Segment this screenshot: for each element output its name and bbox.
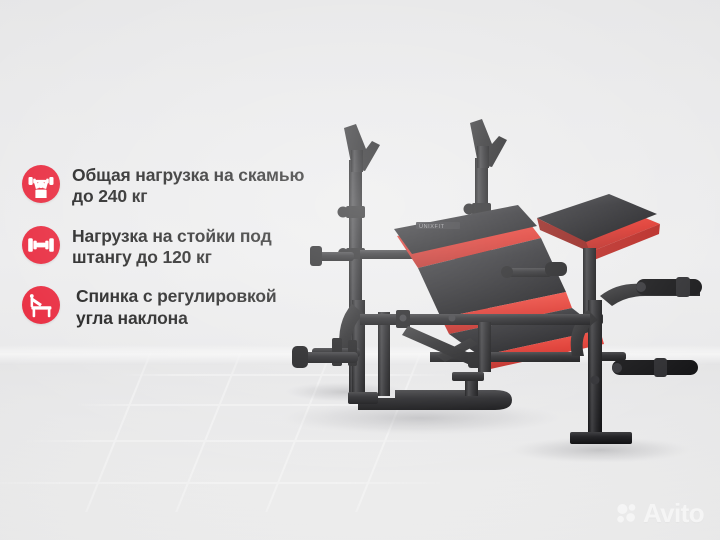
product-image-canvas: UNIXFIT bbox=[0, 0, 720, 540]
feature-item-bench-capacity: Общая нагрузка на скамью до 240 кг bbox=[22, 163, 342, 208]
feature-label: Нагрузка на стойки под штангу до 120 кг bbox=[72, 224, 272, 269]
feature-label: Общая нагрузка на скамью до 240 кг bbox=[72, 163, 304, 208]
feature-item-adjustable-backrest: Спинка с регулировкой угла наклона bbox=[22, 284, 342, 329]
overhead-press-icon bbox=[22, 165, 60, 203]
feature-label: Спинка с регулировкой угла наклона bbox=[72, 284, 277, 329]
barbell-icon bbox=[22, 226, 60, 264]
adjustable-backrest-icon bbox=[22, 286, 60, 324]
feature-list: Общая нагрузка на скамью до 240 кг Нагру… bbox=[22, 163, 342, 345]
avito-watermark: Avito bbox=[616, 500, 704, 526]
avito-wordmark: Avito bbox=[643, 500, 704, 526]
feature-item-rack-capacity: Нагрузка на стойки под штангу до 120 кг bbox=[22, 224, 342, 269]
svg-text:UNIXFIT: UNIXFIT bbox=[419, 224, 445, 230]
avito-dots-icon bbox=[616, 502, 638, 524]
